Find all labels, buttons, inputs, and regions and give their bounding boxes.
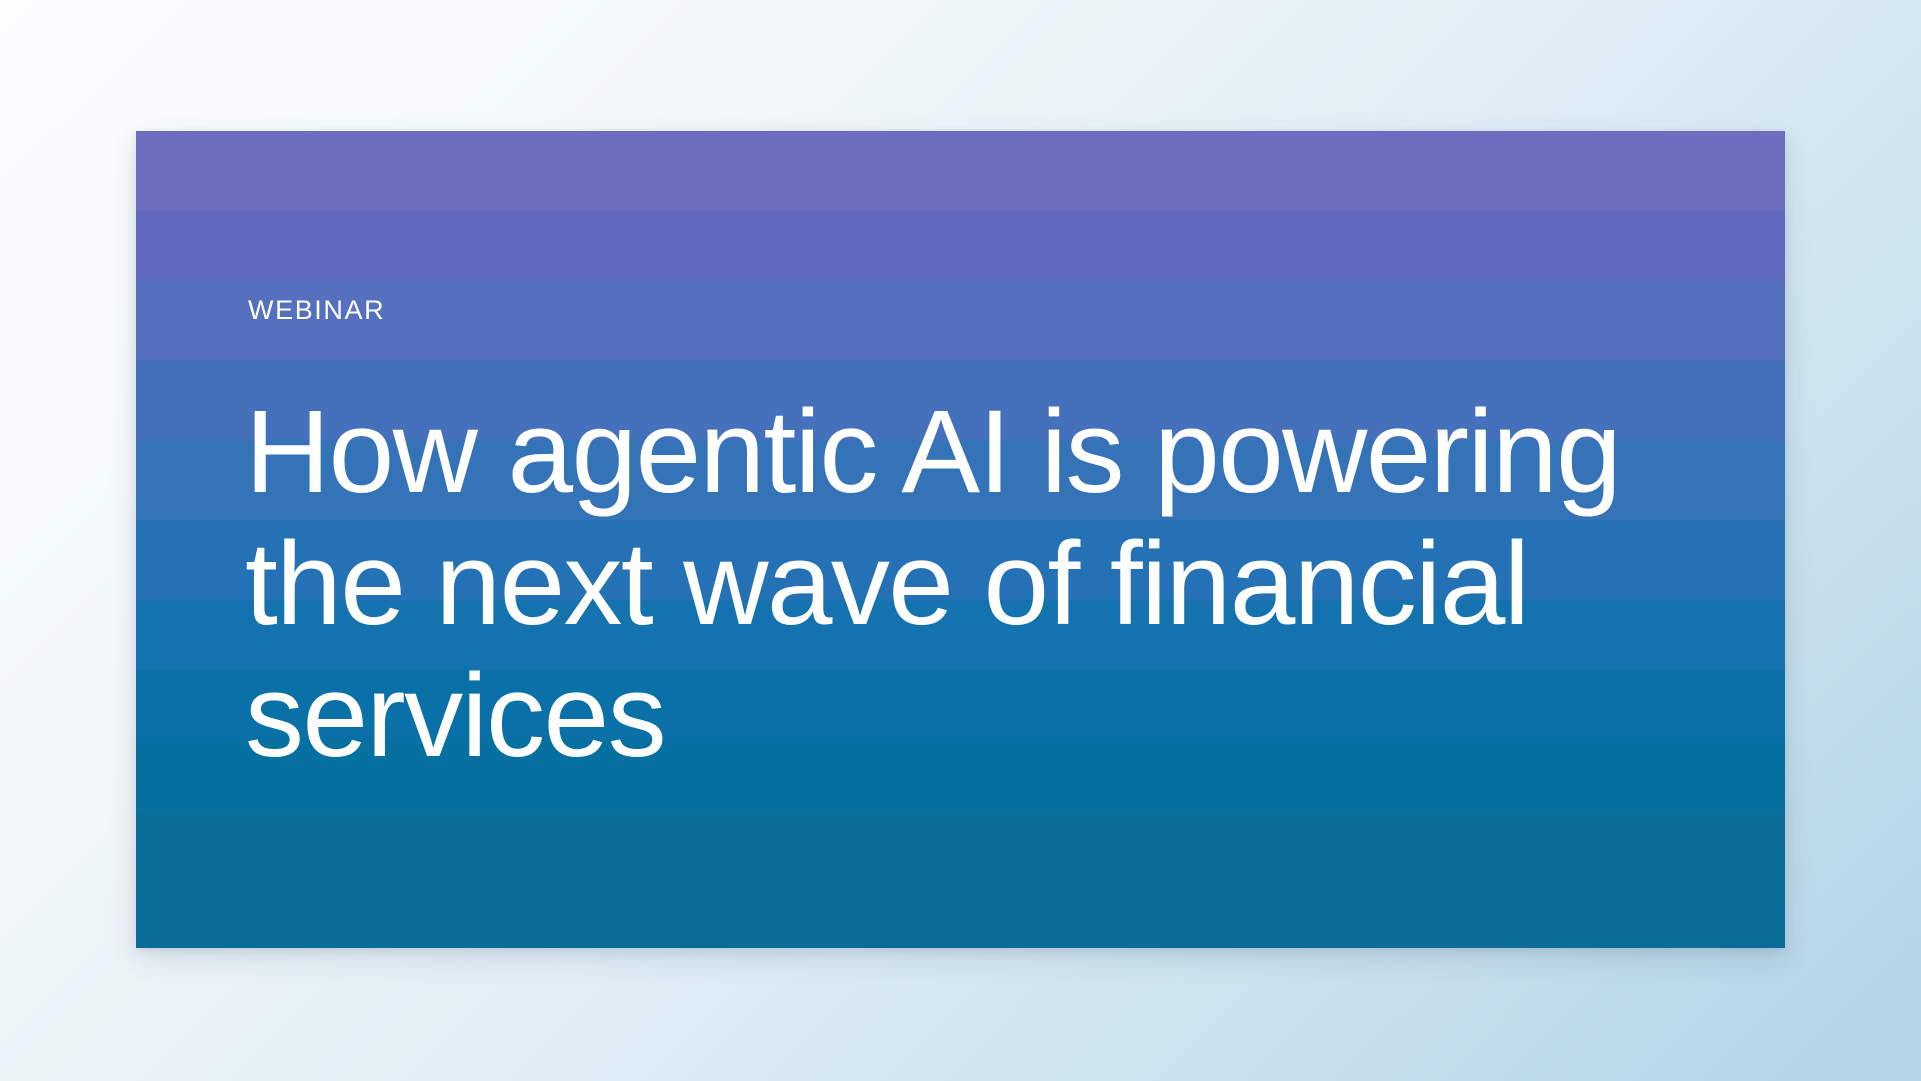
page-title: How agentic AI is powering the next wave… <box>245 386 1678 782</box>
hero-text-block: WEBINAR How agentic AI is powering the n… <box>248 131 1678 948</box>
eyebrow-label: WEBINAR <box>248 297 385 324</box>
webinar-hero-card[interactable]: WEBINAR How agentic AI is powering the n… <box>136 131 1785 948</box>
page-background: WEBINAR How agentic AI is powering the n… <box>0 0 1921 1081</box>
